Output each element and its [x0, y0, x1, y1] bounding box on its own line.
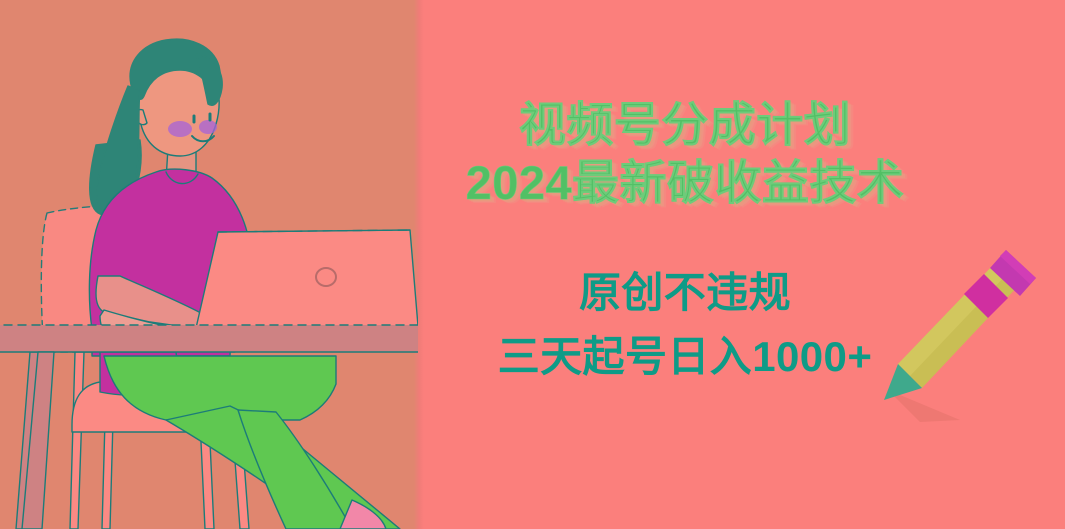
subtitle-line-1: 原创不违规	[430, 264, 940, 322]
title-line-1: 视频号分成计划	[430, 96, 940, 154]
promo-poster: 视频号分成计划 2024最新破收益技术 原创不违规 三天起号日入1000+	[0, 0, 1065, 529]
subtitle-line-2: 三天起号日入1000+	[430, 328, 940, 386]
title-line-2: 2024最新破收益技术	[430, 154, 940, 212]
poster-text-block: 视频号分成计划 2024最新破收益技术 原创不违规 三天起号日入1000+	[430, 96, 940, 416]
illustration-woman-at-desk	[0, 0, 440, 529]
